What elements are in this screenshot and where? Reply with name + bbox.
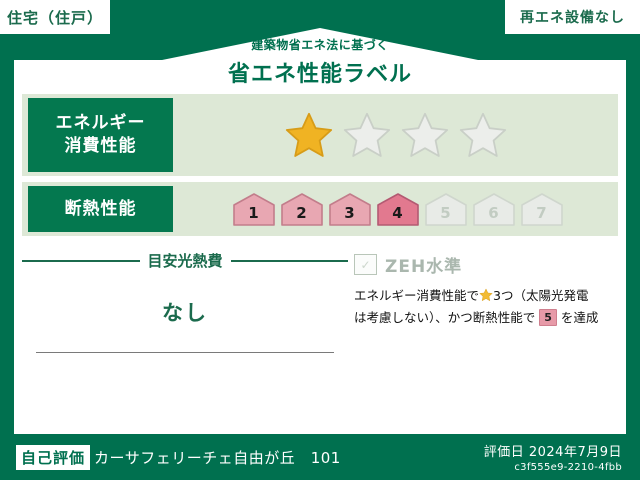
zeh-desc-part3: は考慮しない）、かつ断熱性能で	[354, 310, 535, 325]
star-empty-icon	[343, 111, 391, 159]
insulation-level-value: 4	[392, 204, 402, 227]
star-empty-icon	[401, 111, 449, 159]
energy-performance-key: エネルギー 消費性能	[28, 98, 173, 172]
zeh-title: ZEH水準	[385, 252, 462, 277]
footer-right: 評価日 2024年7月9日 c3f555e9-2210-4fbb	[484, 441, 640, 473]
evaluation-date: 評価日 2024年7月9日	[484, 441, 622, 460]
insulation-level-2: 2	[280, 191, 324, 227]
energy-performance-label: 住宅（住戸） 再エネ設備なし 建築物省エネ法に基づく 省エネ性能ラベル エネルギ…	[0, 0, 640, 480]
page-title: 省エネ性能ラベル	[0, 56, 640, 88]
footer-left: 自己評価 カーサフェリーチェ自由が丘 101	[0, 445, 484, 470]
zeh-heading: ✓ ZEH水準	[354, 252, 618, 277]
evaluation-id: c3f555e9-2210-4fbb	[484, 462, 622, 473]
insulation-level-3: 3	[328, 191, 372, 227]
insulation-level-7: 7	[520, 191, 564, 227]
utility-cost-value: なし	[22, 297, 348, 327]
lower-section: 目安光熱費 なし ✓ ZEH水準 エネルギー消費性能で3つ（太陽光発電は考慮しな…	[22, 242, 618, 390]
star-icon	[479, 288, 493, 302]
insulation-level-value: 6	[488, 204, 498, 227]
label-card: エネルギー 消費性能 断熱性能 1234567 目安光熱費	[14, 88, 626, 434]
insulation-level-value: 7	[536, 204, 546, 227]
insulation-level-value: 1	[248, 204, 258, 227]
insulation-level-value: 5	[440, 204, 450, 227]
insulation-level-5: 5	[424, 191, 468, 227]
insulation-performance-value: 1234567	[173, 182, 618, 236]
star-filled-icon	[285, 111, 333, 159]
badge-renewable-equipment: 再エネ設備なし	[505, 0, 640, 34]
divider	[36, 352, 334, 353]
label-header: 建築物省エネ法に基づく 省エネ性能ラベル	[0, 36, 640, 88]
header-subtitle: 建築物省エネ法に基づく	[0, 36, 640, 53]
star-rating	[285, 111, 507, 159]
rule-left	[22, 260, 140, 262]
zeh-desc-part4: を達成	[561, 310, 599, 325]
zeh-required-level-chip: 5	[539, 309, 557, 326]
self-evaluation-badge: 自己評価	[16, 445, 90, 470]
star-empty-icon	[459, 111, 507, 159]
insulation-level-value: 3	[344, 204, 354, 227]
zeh-desc-part1: エネルギー消費性能で	[354, 288, 479, 303]
energy-label-line1: エネルギー	[56, 112, 146, 135]
insulation-level-4: 4	[376, 191, 420, 227]
row-energy-performance: エネルギー 消費性能	[22, 94, 618, 176]
insulation-label: 断熱性能	[65, 198, 137, 221]
row-insulation-performance: 断熱性能 1234567	[22, 182, 618, 236]
insulation-level-1: 1	[232, 191, 276, 227]
zeh-description: エネルギー消費性能で3つ（太陽光発電は考慮しない）、かつ断熱性能で 5 を達成	[354, 285, 618, 329]
zeh-desc-part2: 3つ（太陽光発電	[493, 288, 588, 303]
utility-cost-block: 目安光熱費 なし	[22, 242, 348, 390]
insulation-level-scale: 1234567	[228, 191, 564, 227]
insulation-level-6: 6	[472, 191, 516, 227]
insulation-level-value: 2	[296, 204, 306, 227]
insulation-performance-key: 断熱性能	[28, 186, 173, 232]
utility-cost-heading: 目安光熱費	[22, 250, 348, 271]
energy-label-line2: 消費性能	[65, 135, 137, 158]
badge-building-type: 住宅（住戸）	[0, 0, 110, 34]
building-name: カーサフェリーチェ自由が丘 101	[94, 447, 341, 468]
energy-performance-value	[173, 94, 618, 176]
checkbox-icon: ✓	[354, 254, 377, 275]
label-footer: 自己評価 カーサフェリーチェ自由が丘 101 評価日 2024年7月9日 c3f…	[0, 434, 640, 480]
utility-cost-label: 目安光熱費	[148, 250, 223, 271]
rule-right	[231, 260, 349, 262]
zeh-block: ✓ ZEH水準 エネルギー消費性能で3つ（太陽光発電は考慮しない）、かつ断熱性能…	[348, 242, 618, 390]
